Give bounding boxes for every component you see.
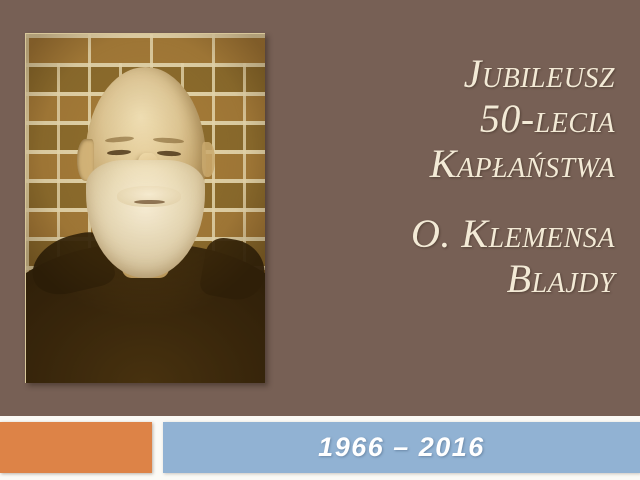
accent-bar-orange <box>0 422 152 473</box>
portrait-photo-inner <box>26 34 265 383</box>
years-label: 1966 – 2016 <box>163 422 640 473</box>
title-group-secondary: O. Klemensa Blajdy <box>300 212 615 302</box>
slide-title-block: Jubileusz 50-lecia Kapłaństwa O. Klemens… <box>300 52 615 302</box>
subtitle-line-1: O. Klemensa <box>300 212 615 257</box>
title-line-3: Kapłaństwa <box>300 142 615 187</box>
presentation-slide: Jubileusz 50-lecia Kapłaństwa O. Klemens… <box>0 0 640 480</box>
title-line-1: Jubileusz <box>300 52 615 97</box>
title-group-primary: Jubileusz 50-lecia Kapłaństwa <box>300 52 615 186</box>
portrait-photo <box>25 33 265 383</box>
title-line-2: 50-lecia <box>300 97 615 142</box>
subtitle-line-2: Blajdy <box>300 257 615 302</box>
sepia-tone-overlay <box>26 34 265 383</box>
